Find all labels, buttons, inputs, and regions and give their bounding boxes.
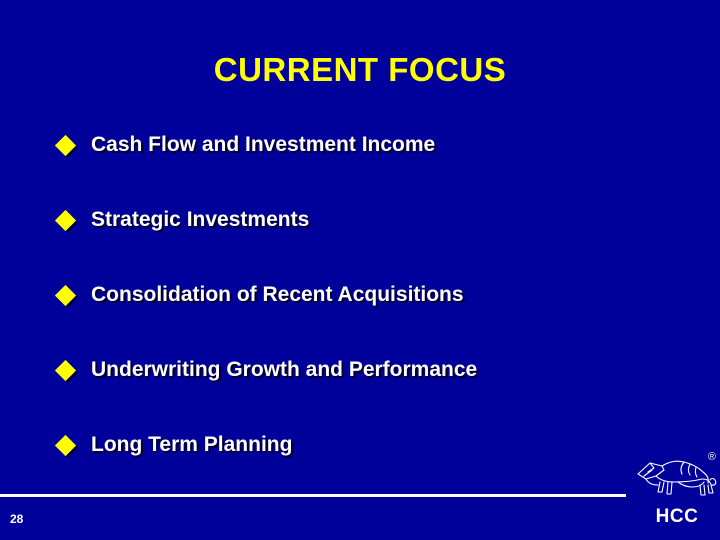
logo-wordmark: HCC <box>634 506 720 528</box>
footer-divider <box>0 494 626 497</box>
diamond-bullet-icon <box>58 213 80 235</box>
page-title: CURRENT FOCUS <box>0 50 720 90</box>
list-item: Cash Flow and Investment Income <box>58 132 678 207</box>
list-item: Strategic Investments <box>58 207 678 282</box>
diamond-bullet-icon <box>58 363 80 385</box>
list-item: Consolidation of Recent Acquisitions <box>58 282 678 357</box>
bullet-list: Cash Flow and Investment Income Strategi… <box>58 132 678 507</box>
hcc-logo: ® HCC <box>634 452 720 536</box>
diamond-bullet-icon <box>58 438 80 460</box>
list-item-label: Underwriting Growth and Performance <box>91 357 477 383</box>
diamond-bullet-icon <box>58 288 80 310</box>
list-item: Underwriting Growth and Performance <box>58 357 678 432</box>
list-item-label: Cash Flow and Investment Income <box>91 132 435 158</box>
slide: CURRENT FOCUS Cash Flow and Investment I… <box>0 0 720 540</box>
list-item-label: Consolidation of Recent Acquisitions <box>91 282 464 308</box>
diamond-bullet-icon <box>58 138 80 160</box>
list-item-label: Strategic Investments <box>91 207 309 233</box>
registered-trademark-icon: ® <box>708 452 716 463</box>
list-item-label: Long Term Planning <box>91 432 292 458</box>
page-number: 28 <box>10 512 23 526</box>
